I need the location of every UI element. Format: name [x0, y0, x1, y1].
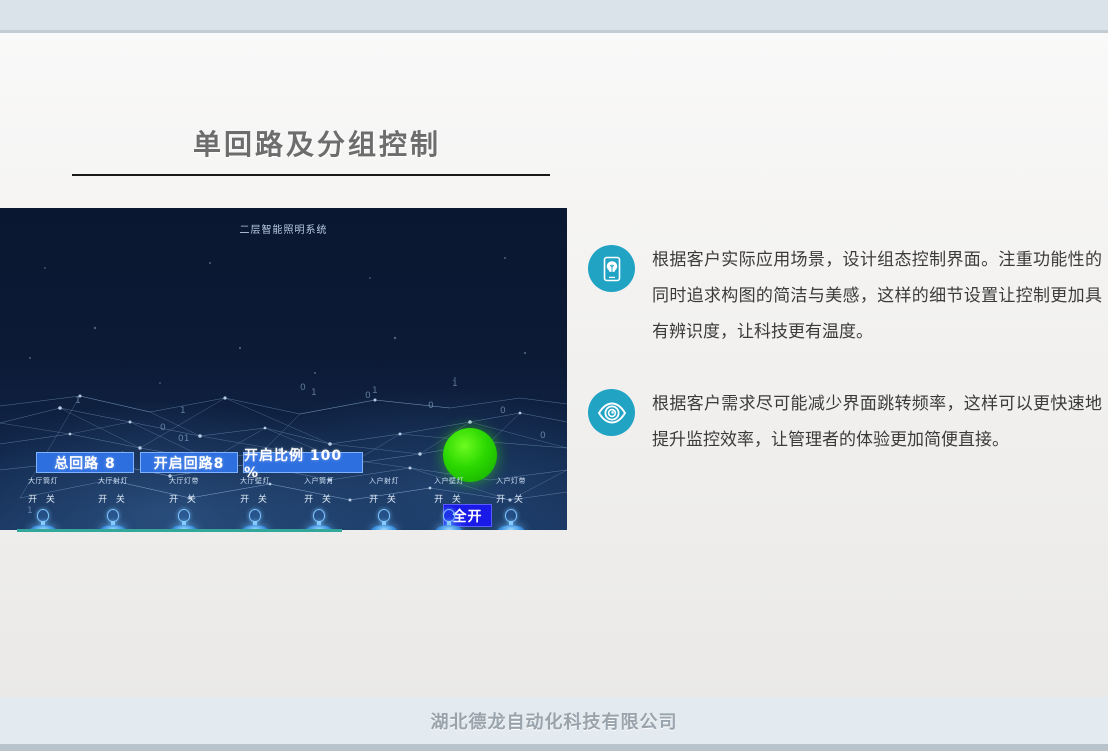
lamp-icon[interactable] [240, 509, 270, 530]
channel-label: 入户灯带 [482, 476, 540, 486]
status-lamp-indicator [443, 428, 497, 482]
channel-switch-label: 开 关 [14, 492, 72, 505]
svg-text:1: 1 [311, 388, 317, 398]
channel-label: 入户筒灯 [290, 476, 348, 486]
channel-label: 大厅灯带 [155, 476, 213, 486]
svg-text:01: 01 [178, 434, 189, 444]
bullet-text-1: 根据客户实际应用场景，设计组态控制界面。注重功能性的同时追求构图的简洁与美感，这… [652, 242, 1102, 350]
lamp-icon[interactable] [434, 509, 464, 530]
channel-cell[interactable]: 入户筒灯开 关 [290, 476, 348, 530]
lamp-icon[interactable] [28, 509, 58, 530]
stat-total-circuits: 总回路 8 [36, 452, 134, 473]
svg-text:1: 1 [372, 386, 378, 396]
channel-switch-label: 开 关 [155, 492, 213, 505]
channel-cell[interactable]: 大厅射灯开 关 [84, 476, 142, 530]
lamp-icon[interactable] [169, 509, 199, 530]
channel-label: 大厅筒灯 [14, 476, 72, 486]
svg-text:0: 0 [365, 391, 371, 401]
svg-text:0: 0 [160, 423, 166, 433]
channel-cell[interactable]: 大厅壁灯开 关 [226, 476, 284, 530]
svg-text:0: 0 [540, 431, 546, 441]
window-top-band [0, 0, 1108, 30]
hmi-underline-accent [17, 529, 342, 532]
svg-text:0: 0 [428, 401, 434, 411]
window-top-band-edge [0, 30, 1108, 33]
channel-switch-label: 开 关 [482, 492, 540, 505]
lamp-icon[interactable] [98, 509, 128, 530]
channel-cell[interactable]: 大厅筒灯开 关 [14, 476, 72, 530]
slide-canvas: 单回路及分组控制 [0, 0, 1108, 751]
lamp-icon[interactable] [496, 509, 526, 530]
channel-label: 大厅射灯 [84, 476, 142, 486]
hmi-screenshot-panel: 01 10 011 01 01 10 01 01 二层智能照明系统 总回路 8 … [0, 208, 567, 530]
hmi-system-title: 二层智能照明系统 [0, 221, 567, 236]
channel-label: 入户壁灯 [420, 476, 478, 486]
channel-cell[interactable]: 入户射灯开 关 [355, 476, 413, 530]
lamp-icon[interactable] [304, 509, 334, 530]
svg-text:0: 0 [500, 406, 506, 416]
lightbulb-phone-icon [588, 245, 635, 292]
svg-text:1: 1 [180, 406, 186, 416]
stat-on-percentage: 开启比例 100 % [243, 452, 363, 473]
channel-switch-label: 开 关 [84, 492, 142, 505]
channel-switch-label: 开 关 [355, 492, 413, 505]
svg-text:1: 1 [75, 396, 81, 406]
svg-text:0: 0 [300, 383, 306, 393]
footer-band-edge [0, 744, 1108, 751]
channel-label: 大厅壁灯 [226, 476, 284, 486]
stat-circuits-on: 开启回路8 [140, 452, 238, 473]
page-title: 单回路及分组控制 [193, 123, 441, 163]
footer-company-name: 湖北德龙自动化科技有限公司 [0, 708, 1108, 734]
bullet-text-2: 根据客户需求尽可能减少界面跳转频率，这样可以更快速地提升监控效率，让管理者的体验… [652, 386, 1102, 458]
channel-label: 入户射灯 [355, 476, 413, 486]
channel-cell[interactable]: 大厅灯带开 关 [155, 476, 213, 530]
title-underline [72, 174, 550, 176]
lamp-icon[interactable] [369, 509, 399, 530]
eye-icon [588, 389, 635, 436]
channel-switch-label: 开 关 [420, 492, 478, 505]
channel-switch-label: 开 关 [290, 492, 348, 505]
channel-switch-label: 开 关 [226, 492, 284, 505]
channel-cell[interactable]: 入户壁灯开 关 [420, 476, 478, 530]
channel-cell[interactable]: 入户灯带开 关 [482, 476, 540, 530]
svg-text:1: 1 [452, 379, 458, 389]
